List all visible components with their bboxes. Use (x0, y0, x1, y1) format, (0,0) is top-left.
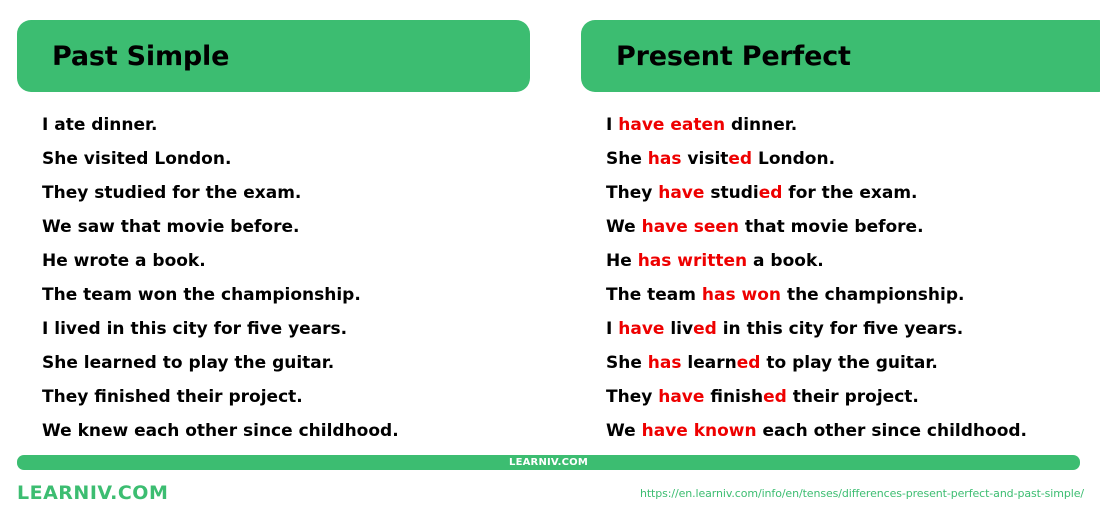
sentence-text: He wrote a book. (42, 251, 206, 271)
header-past-simple: Past Simple (17, 20, 530, 92)
highlighted-verb: has written (638, 251, 747, 271)
sentence-line: She learned to play the guitar. (42, 346, 550, 380)
highlighted-verb: have eaten (618, 115, 725, 135)
sentence-line: He wrote a book. (42, 244, 550, 278)
sentence-line: We have seen that movie before. (606, 210, 1100, 244)
sentence-line: They finished their project. (42, 380, 550, 414)
sentence-line: The team won the championship. (42, 278, 550, 312)
sentence-line: She has visited London. (606, 142, 1100, 176)
highlighted-verb: ed (737, 353, 761, 373)
sentence-list-past-simple: I ate dinner.She visited London.They stu… (17, 108, 550, 448)
sentence-text: visit (682, 149, 729, 169)
sentence-text: She learned to play the guitar. (42, 353, 334, 373)
sentence-text: in this city for five years. (717, 319, 963, 339)
sentence-text: for the exam. (782, 183, 917, 203)
sentence-text: We (606, 217, 642, 237)
highlighted-verb: have known (642, 421, 757, 441)
sentence-text: We knew each other since childhood. (42, 421, 399, 441)
sentence-line: The team has won the championship. (606, 278, 1100, 312)
sentence-line: I have eaten dinner. (606, 108, 1100, 142)
sentence-text: the championship. (781, 285, 964, 305)
source-url: https://en.learniv.com/info/en/tenses/di… (640, 487, 1084, 500)
column-past-simple: Past Simple I ate dinner.She visited Lon… (0, 0, 550, 448)
sentence-line: We have known each other since childhood… (606, 414, 1100, 448)
highlighted-verb: has (648, 149, 682, 169)
sentence-text: He (606, 251, 638, 271)
footer-brand-bar: LEARNIV.COM (17, 455, 1080, 470)
card-title-present-perfect: Present Perfect (616, 41, 851, 72)
sentence-text: The team won the championship. (42, 285, 361, 305)
sentence-text: They (606, 387, 658, 407)
highlighted-verb: ed (763, 387, 787, 407)
card-title-past-simple: Past Simple (52, 41, 229, 72)
highlighted-verb: have seen (642, 217, 739, 237)
column-present-perfect: Present Perfect I have eaten dinner.She … (550, 0, 1100, 448)
sentence-text: that movie before. (739, 217, 924, 237)
sentence-line: I have lived in this city for five years… (606, 312, 1100, 346)
sentence-text: They (606, 183, 658, 203)
sentence-text: dinner. (725, 115, 797, 135)
sentence-line: I lived in this city for five years. (42, 312, 550, 346)
sentence-text: studi (704, 183, 758, 203)
header-present-perfect: Present Perfect (581, 20, 1100, 92)
highlighted-verb: has won (702, 285, 781, 305)
sentence-text: London. (752, 149, 835, 169)
sentence-text: They finished their project. (42, 387, 303, 407)
highlighted-verb: ed (693, 319, 717, 339)
sentence-text: their project. (787, 387, 919, 407)
sentence-text: They studied for the exam. (42, 183, 301, 203)
sentence-text: The team (606, 285, 702, 305)
sentence-list-present-perfect: I have eaten dinner.She has visited Lond… (581, 108, 1100, 448)
tense-comparison-columns: Past Simple I ate dinner.She visited Lon… (0, 0, 1100, 448)
sentence-line: They studied for the exam. (42, 176, 550, 210)
sentence-line: I ate dinner. (42, 108, 550, 142)
sentence-line: They have studied for the exam. (606, 176, 1100, 210)
sentence-line: We knew each other since childhood. (42, 414, 550, 448)
sentence-text: learn (682, 353, 737, 373)
highlighted-verb: have (658, 387, 704, 407)
sentence-text: each other since childhood. (757, 421, 1027, 441)
sentence-text: She (606, 353, 648, 373)
sentence-text: I lived in this city for five years. (42, 319, 347, 339)
sentence-text: We saw that movie before. (42, 217, 299, 237)
sentence-text: I ate dinner. (42, 115, 157, 135)
sentence-line: We saw that movie before. (42, 210, 550, 244)
infographic-page: Past Simple I ate dinner.She visited Lon… (0, 0, 1100, 517)
highlighted-verb: has (648, 353, 682, 373)
sentence-line: She visited London. (42, 142, 550, 176)
footer-bar-label: LEARNIV.COM (509, 457, 588, 468)
brand-logo: LEARNIV.COM (17, 482, 168, 504)
sentence-text: to play the guitar. (760, 353, 937, 373)
sentence-text: a book. (747, 251, 824, 271)
sentence-text: I (606, 115, 618, 135)
highlighted-verb: have (658, 183, 704, 203)
sentence-text: She (606, 149, 648, 169)
sentence-text: I (606, 319, 618, 339)
sentence-line: She has learned to play the guitar. (606, 346, 1100, 380)
highlighted-verb: ed (728, 149, 752, 169)
sentence-text: liv (664, 319, 693, 339)
sentence-line: He has written a book. (606, 244, 1100, 278)
highlighted-verb: ed (759, 183, 783, 203)
sentence-text: finish (704, 387, 763, 407)
sentence-line: They have finished their project. (606, 380, 1100, 414)
highlighted-verb: have (618, 319, 664, 339)
sentence-text: We (606, 421, 642, 441)
sentence-text: She visited London. (42, 149, 231, 169)
